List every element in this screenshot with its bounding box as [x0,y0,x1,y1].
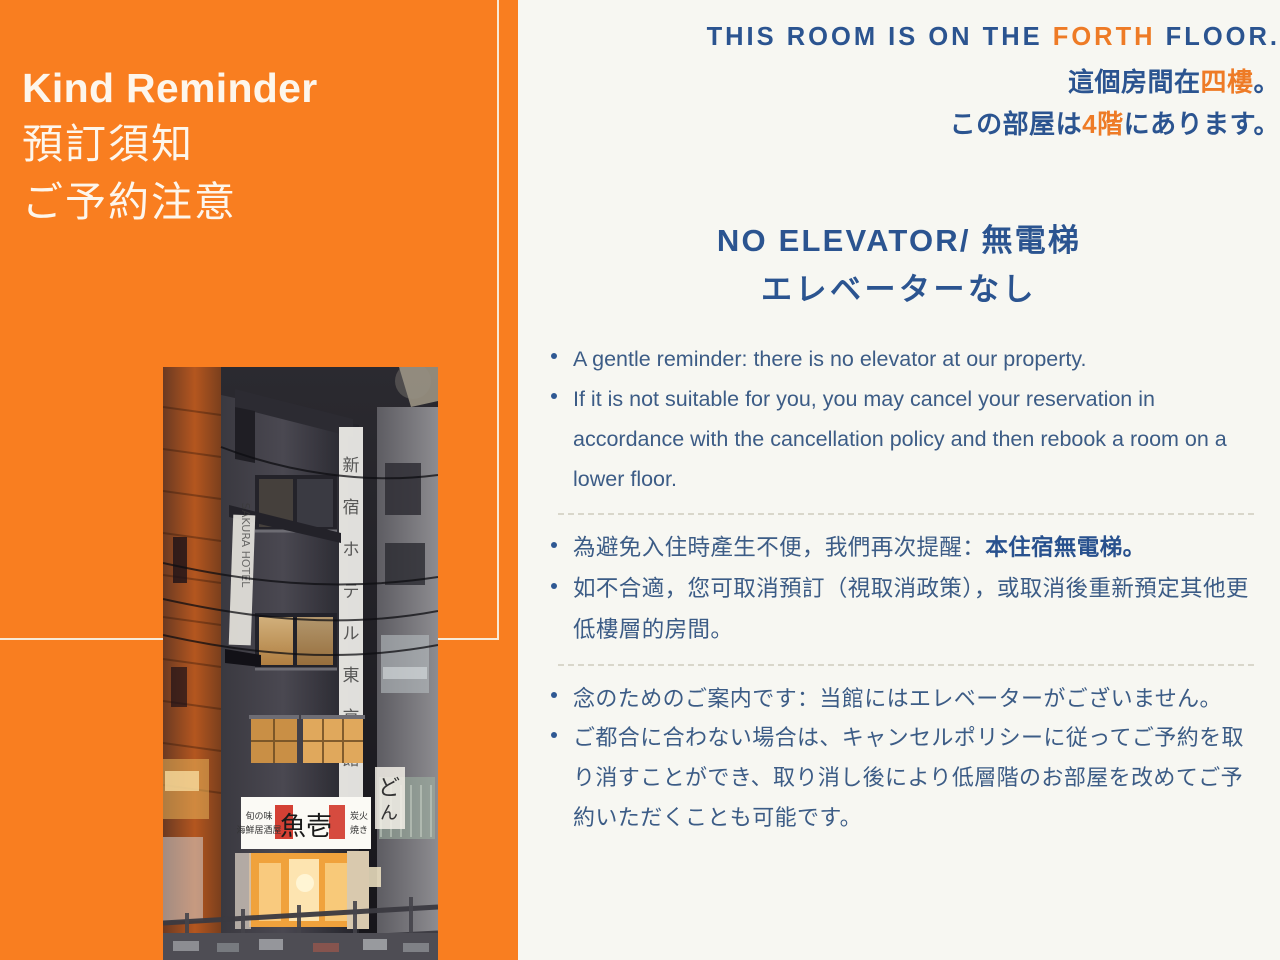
floor-header-zh-prefix: 這個房間在 [1068,67,1201,97]
no-elevator-heading-line2: エレベーターなし [518,271,1280,310]
title-chinese: 預訂須知 [22,118,472,170]
divider-dashed-top [558,513,1254,515]
floor-header-chinese: 這個房間在四樓。 [518,64,1280,102]
list-item-emphasis: 本住宿無電梯。 [985,535,1145,560]
svg-text:魚壱: 魚壱 [280,812,332,842]
list-item: If it is not suitable for you, you may c… [540,380,1258,500]
svg-text:旬の味: 旬の味 [245,810,272,822]
svg-text:焼き: 焼き [350,825,368,836]
bullet-list-english: A gentle reminder: there is no elevator … [540,340,1258,500]
hotel-building-photo: ど ん 新宿 ホテ ル東 京館 [163,367,438,960]
svg-text:海鮮居酒屋: 海鮮居酒屋 [236,824,281,836]
notice-body: A gentle reminder: there is no elevator … [540,340,1258,837]
list-item-text: 為避免入住時產生不便，我們再次提醒： [573,535,985,560]
svg-text:新: 新 [343,456,360,476]
bullet-dot-icon [551,692,557,698]
svg-text:SAKURA HOTEL: SAKURA HOTEL [239,503,252,588]
title-english: Kind Reminder [22,66,472,112]
svg-text:東: 東 [343,666,360,686]
list-item-text: If it is not suitable for you, you may c… [573,387,1227,491]
list-item-text: 如不合適，您可取消預訂（視取消政策），或取消後重新預定其他更低樓層的房間。 [573,576,1249,642]
decorative-vertical-rule [497,0,499,638]
bullet-dot-icon [551,393,557,399]
left-orange-panel: Kind Reminder 預訂須知 ご予約注意 [0,0,518,960]
no-elevator-heading-line1: NO ELEVATOR/ 無電梯 [518,222,1280,261]
floor-header-english: THIS ROOM IS ON THE FORTH FLOOR. [518,22,1280,53]
list-item: A gentle reminder: there is no elevator … [540,340,1258,380]
floor-header-en-prefix: THIS ROOM IS ON THE [707,23,1053,51]
floor-header-ja-highlight: 4階 [1082,109,1123,139]
title-japanese: ご予約注意 [22,176,472,228]
svg-text:炭火: 炭火 [350,811,368,822]
svg-text:ホ: ホ [343,540,360,560]
bullet-dot-icon [551,542,557,548]
floor-header-ja-suffix: にあります。 [1124,109,1280,139]
floor-header-zh-highlight: 四樓 [1200,67,1253,97]
list-item-text: A gentle reminder: there is no elevator … [573,347,1087,371]
floor-header-en-suffix: FLOOR. [1156,23,1280,51]
floor-header: THIS ROOM IS ON THE FORTH FLOOR. 這個房間在四樓… [518,22,1280,143]
list-item-text: 念のためのご案内です：当館にはエレベーターがございません。 [573,686,1222,711]
svg-text:ん: ん [380,803,398,824]
floor-header-zh-suffix: 。 [1253,67,1280,97]
bullet-dot-icon [551,732,557,738]
no-elevator-heading: NO ELEVATOR/ 無電梯 エレベーターなし [518,222,1280,310]
hotel-building-illustration: ど ん 新宿 ホテ ル東 京館 [163,367,438,960]
floor-header-en-highlight: FORTH [1053,23,1156,51]
bullet-list-chinese: 為避免入住時產生不便，我們再次提醒：本住宿無電梯。 如不合適，您可取消預訂（視取… [540,528,1258,651]
floor-header-japanese: この部屋は4階にあります。 [518,106,1280,144]
list-item-text: ご都合に合わない場合は、キャンセルポリシーに従ってご予約を取り消すことができ、取… [573,725,1244,829]
title-block: Kind Reminder 預訂須知 ご予約注意 [22,66,472,229]
floor-header-ja-prefix: この部屋は [950,109,1083,139]
list-item: ご都合に合わない場合は、キャンセルポリシーに従ってご予約を取り消すことができ、取… [540,718,1258,837]
bullet-list-japanese: 念のためのご案内です：当館にはエレベーターがございません。 ご都合に合わない場合… [540,679,1258,837]
bullet-dot-icon [551,583,557,589]
bullet-dot-icon [551,353,557,359]
list-item: 為避免入住時產生不便，我們再次提醒：本住宿無電梯。 [540,528,1258,569]
list-item: 念のためのご案内です：当館にはエレベーターがございません。 [540,679,1258,719]
svg-text:宿: 宿 [343,498,360,518]
right-content-panel: THIS ROOM IS ON THE FORTH FLOOR. 這個房間在四樓… [518,0,1280,960]
svg-text:ど: ど [378,776,400,801]
svg-text:ル: ル [343,624,360,644]
poster-root: Kind Reminder 預訂須知 ご予約注意 [0,0,1280,960]
list-item: 如不合適，您可取消預訂（視取消政策），或取消後重新預定其他更低樓層的房間。 [540,569,1258,651]
divider-dashed-bottom [558,664,1254,666]
